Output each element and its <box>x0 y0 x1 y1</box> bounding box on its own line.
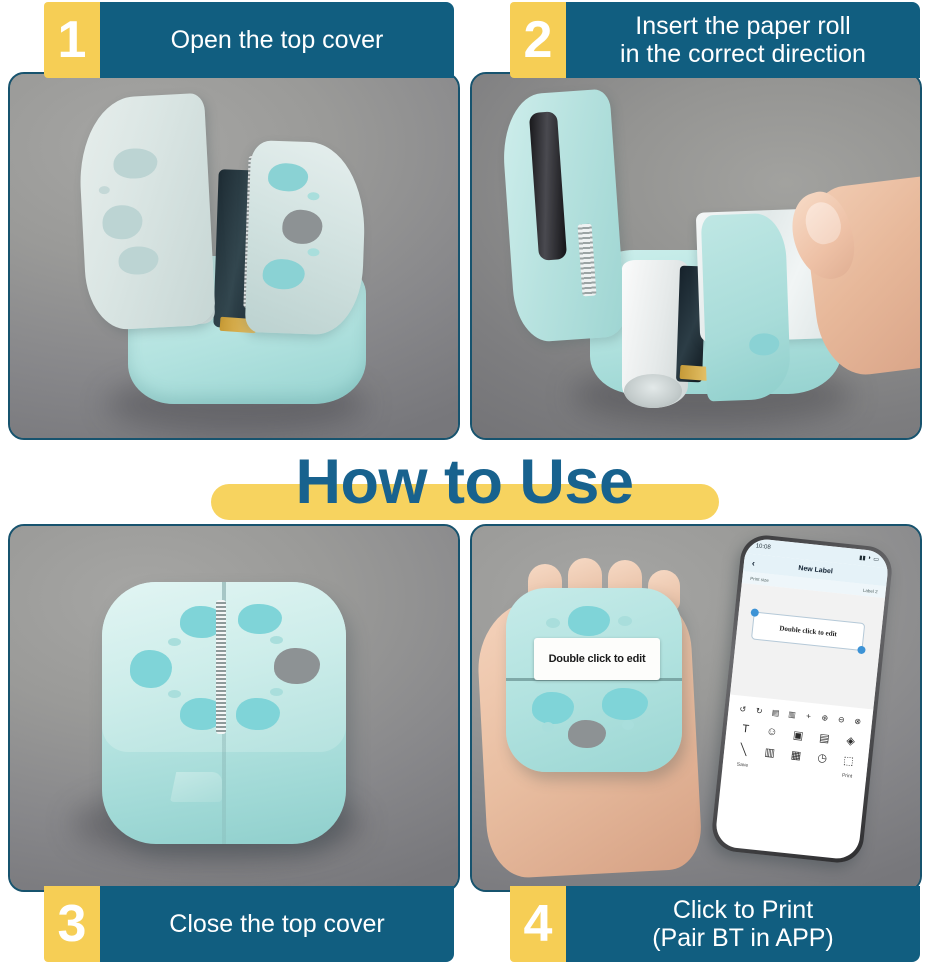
step-1-number: 1 <box>44 2 100 78</box>
subbar-right-label: Label 2 <box>863 587 878 594</box>
step-3-number: 3 <box>44 886 100 962</box>
step-3-line-1: Close the top cover <box>169 910 384 938</box>
signal-icon: ▮▮ <box>859 554 866 562</box>
printer-front-notch <box>170 772 222 802</box>
lock-icon[interactable]: ▥ <box>784 706 799 721</box>
canvas-text-object[interactable]: Double click to edit <box>752 613 864 650</box>
wifi-icon: ◗ <box>867 555 871 561</box>
nub-icon <box>618 616 632 626</box>
subbar-left-label: Print size <box>750 575 769 582</box>
step-4-line-2: (Pair BT in APP) <box>652 924 834 952</box>
phone-toolbar: ↺ ↻ ▤ ▥ + ⊕ ⊖ ⊗ T ☺ ▣ ▤ ◈ <box>722 694 873 783</box>
step-3-header: 3 Close the top cover <box>44 886 454 962</box>
barcode-icon[interactable]: ▥ <box>762 744 777 759</box>
step-2-text: Insert the paper roll in the correct dir… <box>566 2 920 78</box>
cloud-cutout-icon <box>602 688 648 720</box>
tear-bar <box>216 600 226 734</box>
paper-roll-core <box>624 374 682 408</box>
emoji-icon[interactable]: ☺ <box>764 724 779 739</box>
nub-icon <box>270 688 283 696</box>
cloud-cutout-icon <box>236 698 280 730</box>
back-icon[interactable]: ‹ <box>751 558 755 568</box>
cloud-cutout-icon <box>118 245 159 275</box>
cloud-cutout-icon <box>568 606 610 636</box>
print-button[interactable]: Print <box>842 773 853 780</box>
cloud-cutout-icon <box>268 163 309 192</box>
cloud-cutout-icon <box>130 650 172 688</box>
undo-icon[interactable]: ↺ <box>735 701 750 716</box>
step-2-line-1: Insert the paper roll <box>635 12 850 40</box>
printed-label-text: Double click to edit <box>549 653 646 665</box>
nub-icon <box>168 638 181 646</box>
nub-icon <box>307 248 319 256</box>
step-1-line-1: Open the top cover <box>171 26 384 54</box>
phone-nav-title: New Label <box>798 564 833 575</box>
nub-icon <box>622 720 634 730</box>
rotate-icon[interactable]: ⊗ <box>850 713 865 728</box>
qrcode-icon[interactable]: ▦ <box>788 747 803 762</box>
save-button[interactable]: Save <box>736 762 748 769</box>
delete-icon[interactable]: ▤ <box>768 705 783 720</box>
phone-screen: 10:08 ▮▮ ◗ ▭ ‹ New Label Print size Labe… <box>714 537 890 860</box>
battery-icon: ▭ <box>873 555 879 563</box>
copy-icon[interactable]: ⊖ <box>834 712 849 727</box>
add-icon[interactable]: + <box>801 708 816 723</box>
serial-icon[interactable]: ⬚ <box>841 753 856 768</box>
step-3-text: Close the top cover <box>100 886 454 962</box>
phone-canvas[interactable]: Double click to edit <box>730 583 885 709</box>
nub-icon <box>542 722 554 732</box>
printer-front-cover <box>701 213 791 402</box>
cloud-cutout-icon <box>113 147 159 179</box>
step-4-photo: Double click to edit 10:08 ▮▮ ◗ ▭ ‹ New … <box>470 524 922 892</box>
status-icons: ▮▮ ◗ ▭ <box>859 554 880 563</box>
cloud-cutout-icon <box>238 604 282 634</box>
shape-icon[interactable]: ◈ <box>843 733 858 748</box>
cloud-cutout-icon <box>102 204 144 240</box>
redo-icon[interactable]: ↻ <box>752 703 767 718</box>
page-title-block: How to Use <box>0 444 929 520</box>
cloud-cutout-icon <box>262 259 305 290</box>
printer-lid-right <box>245 140 368 336</box>
step-4-number: 4 <box>510 886 566 962</box>
step-2-number: 2 <box>510 2 566 78</box>
cloud-cutout-icon <box>274 648 320 684</box>
step-1-photo <box>8 72 460 440</box>
nub-icon <box>546 618 560 628</box>
cloud-cutout-icon <box>532 692 574 724</box>
printed-label: Double click to edit <box>534 638 660 680</box>
cloud-cutout-icon <box>282 209 323 244</box>
how-to-use-infographic: 1 Open the top cover 2 Insert the paper … <box>0 0 929 967</box>
image-icon[interactable]: ▣ <box>791 727 806 742</box>
step-4-line-1: Click to Print <box>673 896 813 924</box>
printer-lid-left <box>76 93 216 331</box>
nub-icon <box>307 192 319 200</box>
nub-icon <box>168 690 181 698</box>
step-4-header: 4 Click to Print (Pair BT in APP) <box>510 886 920 962</box>
canvas-text: Double click to edit <box>779 624 837 638</box>
text-icon[interactable]: T <box>738 722 753 737</box>
nub-icon <box>99 186 110 195</box>
step-2-photo <box>470 72 922 440</box>
page-title: How to Use <box>295 451 633 514</box>
step-2-header: 2 Insert the paper roll in the correct d… <box>510 2 920 78</box>
nub-icon <box>270 636 283 644</box>
time-icon[interactable]: ◷ <box>815 750 830 765</box>
line-icon[interactable]: ╲ <box>736 741 751 756</box>
step-1-header: 1 Open the top cover <box>44 2 454 78</box>
step-3-photo <box>8 524 460 892</box>
cloud-cutout-icon <box>749 333 780 356</box>
zoom-icon[interactable]: ⊕ <box>817 710 832 725</box>
resize-handle-icon[interactable] <box>857 646 866 655</box>
step-2-line-2: in the correct direction <box>620 40 866 68</box>
status-time: 10:08 <box>755 543 771 551</box>
step-4-text: Click to Print (Pair BT in APP) <box>566 886 920 962</box>
table-icon[interactable]: ▤ <box>817 730 832 745</box>
cloud-cutout-icon <box>568 720 606 748</box>
step-1-text: Open the top cover <box>100 2 454 78</box>
